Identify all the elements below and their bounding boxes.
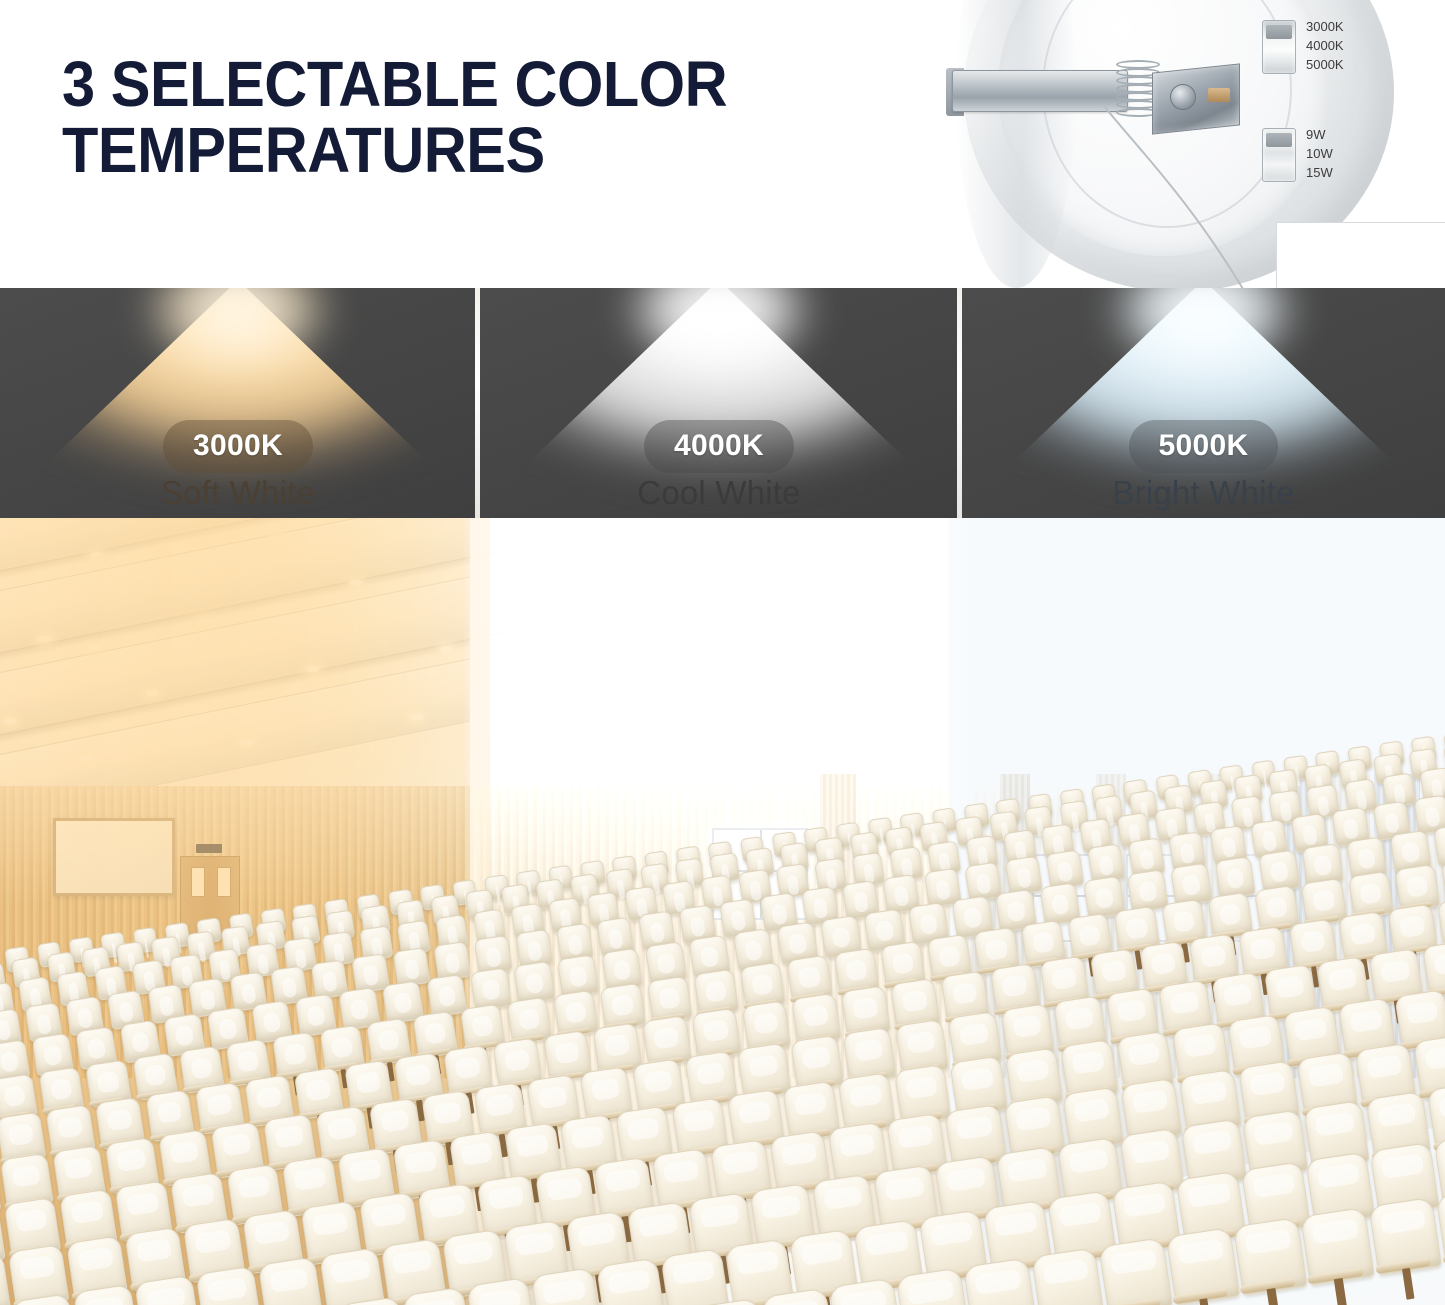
- auditorium-seat: [596, 1258, 666, 1305]
- cct-name-4000k: Cool White: [480, 474, 958, 512]
- cct-name-5000k: Bright White: [962, 474, 1445, 512]
- headline-line-1: 3 SELECTABLE COLOR: [62, 52, 880, 118]
- cct-option-3000k: 3000K: [1306, 17, 1344, 36]
- cct-option-5000k: 5000K: [1306, 55, 1344, 74]
- auditorium-seat: [1031, 1247, 1105, 1305]
- auditorium-seat: [319, 1247, 385, 1305]
- headline-line-2: TEMPERATURES: [62, 118, 880, 184]
- auditorium-seat: [1098, 1237, 1172, 1305]
- wattage-switch-lever[interactable]: [1266, 133, 1292, 147]
- seating-rows: [0, 818, 1445, 1305]
- product-feature-graphic: 3 SELECTABLE COLOR TEMPERATURES: [0, 0, 1445, 1305]
- auditorium-seat: [1433, 823, 1445, 867]
- auditorium-seat: [1441, 857, 1445, 906]
- panel-divider-1: [475, 288, 480, 518]
- seat-leg: [1267, 1288, 1280, 1305]
- cct-panel-5000k[interactable]: 5000K Bright White: [962, 288, 1445, 518]
- auditorium-seat: [257, 1256, 323, 1305]
- cct-panel-4000k[interactable]: 4000K Cool White: [480, 288, 958, 518]
- product-backdrop-edge: [1276, 222, 1445, 288]
- wattage-switch-body[interactable]: [1262, 128, 1296, 182]
- cct-option-4000k: 4000K: [1306, 36, 1344, 55]
- seat-leg: [1402, 1268, 1415, 1300]
- clip-copper-pin: [1208, 88, 1230, 102]
- auditorium-seat: [660, 1248, 730, 1305]
- kelvin-badge-5000k: 5000K: [1129, 420, 1279, 473]
- page-title: 3 SELECTABLE COLOR TEMPERATURES: [62, 52, 880, 184]
- cct-name-3000k: Soft White: [0, 474, 476, 512]
- wattage-option-9w: 9W: [1306, 125, 1333, 144]
- panel-divider-2: [957, 288, 962, 518]
- header-section: 3 SELECTABLE COLOR TEMPERATURES: [0, 0, 1445, 288]
- auditorium-seat: [963, 1257, 1037, 1305]
- color-temperature-band: 3000K Soft White 4000K Cool White 5000K …: [0, 288, 1445, 518]
- wattage-option-10w: 10W: [1306, 144, 1333, 163]
- wattage-option-15w: 15W: [1306, 163, 1333, 182]
- seat-leg: [1334, 1278, 1347, 1305]
- auditorium-scene: [0, 518, 1445, 1305]
- cct-switch-lever[interactable]: [1266, 25, 1292, 39]
- cct-label-group-4000k: 4000K Cool White: [480, 420, 958, 512]
- product-image-downlight: 3000K 4000K 5000K 9W 10W 15W: [946, 0, 1445, 288]
- cct-label-group-5000k: 5000K Bright White: [962, 420, 1445, 512]
- auditorium-seat: [1437, 896, 1445, 949]
- kelvin-badge-4000k: 4000K: [644, 420, 794, 473]
- cct-switch-body[interactable]: [1262, 20, 1296, 74]
- wattage-switch-labels: 9W 10W 15W: [1306, 125, 1333, 182]
- cct-panel-3000k[interactable]: 3000K Soft White: [0, 288, 476, 518]
- kelvin-badge-3000k: 3000K: [163, 420, 313, 473]
- cct-switch-labels: 3000K 4000K 5000K: [1306, 17, 1344, 74]
- cct-label-group-3000k: 3000K Soft White: [0, 420, 476, 512]
